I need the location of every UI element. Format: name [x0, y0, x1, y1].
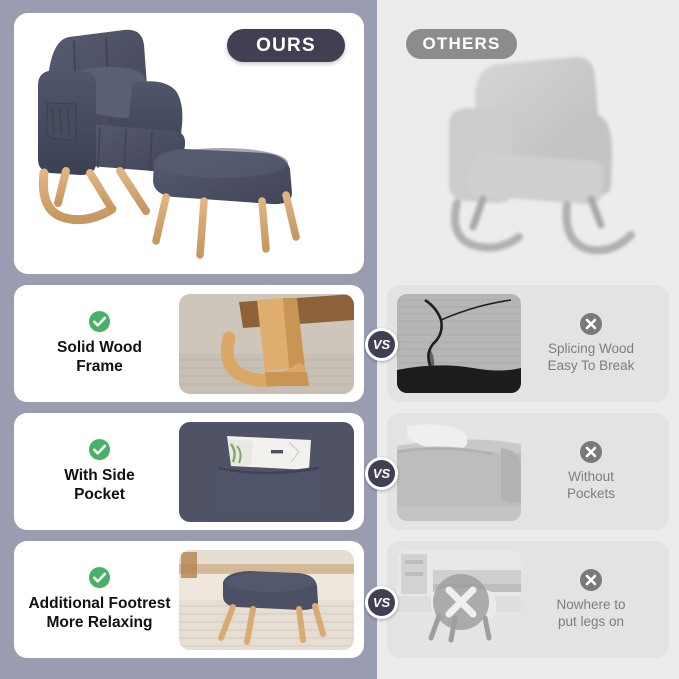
vs-badge: VS — [365, 586, 398, 619]
ours-badge: OURS — [227, 29, 345, 62]
ours-feature-label: With Side Pocket — [64, 467, 134, 505]
vs-badge-label: VS — [373, 595, 390, 610]
ours-feature-thumbnail — [179, 550, 354, 650]
others-feature-label: Nowhere to put legs on — [556, 597, 625, 631]
check-circle-icon — [88, 438, 111, 461]
ours-hero-card: OURS — [14, 13, 364, 274]
vs-badge-label: VS — [373, 466, 390, 481]
others-badge: OTHERS — [406, 29, 517, 59]
others-feature-thumbnail — [397, 422, 521, 521]
others-feature-text: Splicing Wood Easy To Break — [521, 312, 661, 375]
ours-column: OURS — [0, 0, 377, 679]
check-circle-icon — [88, 566, 111, 589]
ours-feature-label: Additional Footrest More Relaxing — [28, 595, 170, 633]
check-circle-icon — [88, 310, 111, 333]
others-feature-label: Without Pockets — [567, 469, 615, 503]
ours-feature-row: With Side Pocket — [14, 413, 364, 530]
others-feature-row: Nowhere to put legs on — [387, 541, 669, 658]
vs-badge-label: VS — [373, 337, 390, 352]
others-feature-row: Splicing Wood Easy To Break — [387, 285, 669, 402]
others-feature-thumbnail — [397, 550, 521, 649]
others-feature-text: Without Pockets — [521, 440, 661, 503]
others-column: OTHERS — [377, 0, 679, 679]
ours-feature-label: Solid Wood Frame — [57, 339, 142, 377]
cross-circle-icon — [579, 312, 603, 336]
cross-circle-icon — [579, 440, 603, 464]
vs-badge: VS — [365, 328, 398, 361]
others-feature-thumbnail — [397, 294, 521, 393]
product-comparison-infographic: OURS — [0, 0, 679, 679]
ours-feature-thumbnail — [179, 294, 354, 394]
others-feature-row: Without Pockets — [387, 413, 669, 530]
ours-badge-label: OURS — [256, 35, 316, 57]
others-badge-label: OTHERS — [422, 34, 500, 54]
ours-feature-row: Additional Footrest More Relaxing — [14, 541, 364, 658]
ours-feature-row: Solid Wood Frame — [14, 285, 364, 402]
vs-badge: VS — [365, 457, 398, 490]
others-feature-text: Nowhere to put legs on — [521, 568, 661, 631]
ours-feature-text: Additional Footrest More Relaxing — [20, 566, 179, 633]
ours-feature-text: With Side Pocket — [20, 438, 179, 505]
ours-feature-text: Solid Wood Frame — [20, 310, 179, 377]
others-feature-label: Splicing Wood Easy To Break — [548, 341, 635, 375]
ours-feature-thumbnail — [179, 422, 354, 522]
cross-circle-icon — [579, 568, 603, 592]
others-hero-card: OTHERS — [387, 13, 669, 274]
